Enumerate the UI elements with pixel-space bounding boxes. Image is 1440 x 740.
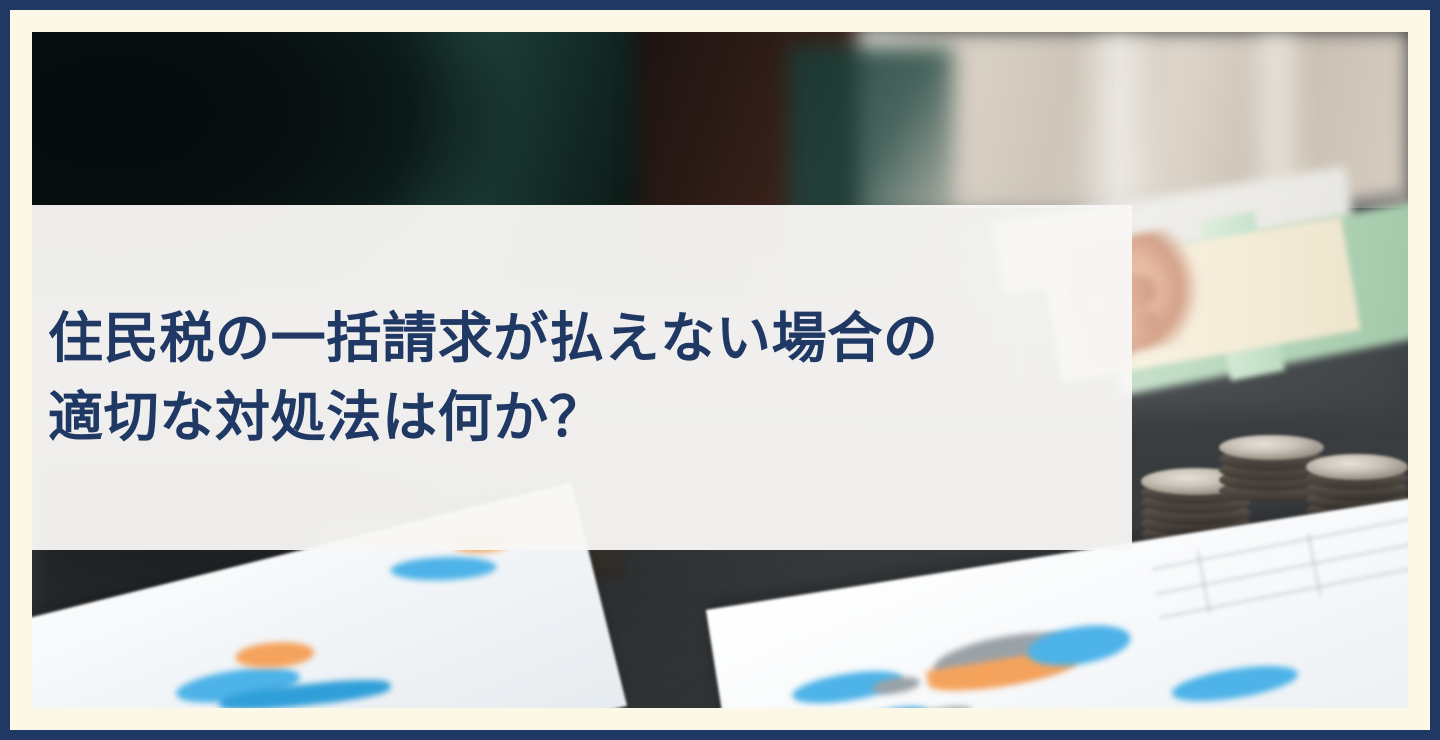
headline-overlay-panel: 住民税の一括請求が払えない場合の 適切な対処法は何か？ bbox=[32, 205, 1132, 550]
window-blind-highlight-2 bbox=[1078, 32, 1161, 215]
background-photograph: 住民税の一括請求が払えない場合の 適切な対処法は何か？ bbox=[32, 32, 1408, 708]
page-title: 住民税の一括請求が払えない場合の 適切な対処法は何か？ bbox=[32, 299, 939, 455]
eyecatch-frame: 住民税の一括請求が払えない場合の 適切な対処法は何か？ bbox=[0, 0, 1440, 740]
inner-cream-border: 住民税の一括請求が払えない場合の 適切な対処法は何か？ bbox=[10, 10, 1430, 730]
